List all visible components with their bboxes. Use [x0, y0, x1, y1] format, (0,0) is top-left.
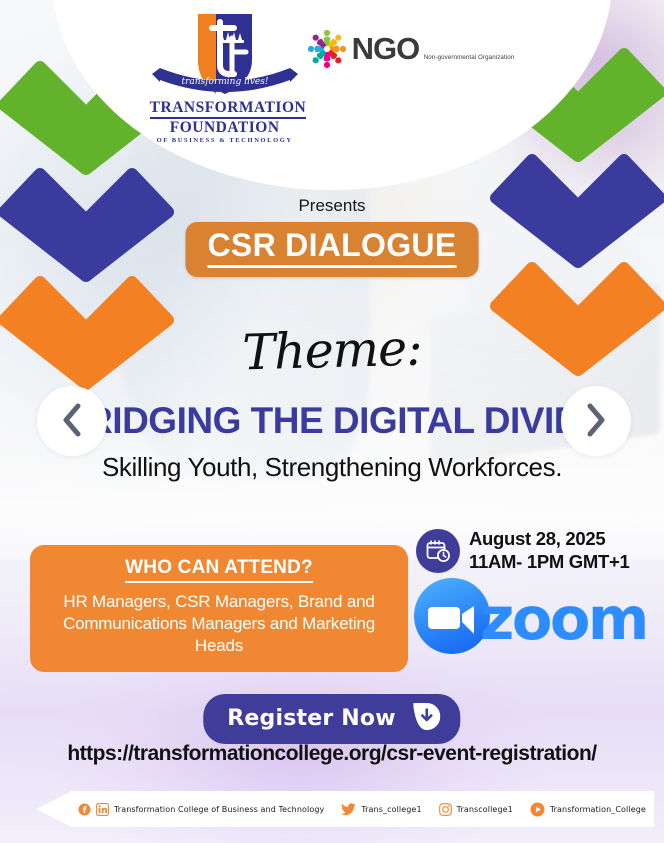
register-now-label: Register Now	[227, 706, 395, 731]
ngo-logo: NGO Non-governmental Organization	[304, 26, 515, 72]
social-footer-bar: Transformation College of Business and T…	[36, 791, 654, 827]
social-handle-twitter: Trans_college1	[361, 805, 421, 814]
social-twitter[interactable]: Trans_college1	[341, 803, 421, 816]
facebook-icon	[78, 803, 91, 816]
event-title: CSR DIALOGUE	[208, 229, 457, 268]
chevron-right-icon	[585, 403, 607, 440]
linkedin-icon	[96, 803, 109, 816]
youtube-icon	[530, 802, 545, 817]
shield-emblem-icon: transforming lives!	[150, 8, 300, 100]
zoom-platform-logo: zoom	[414, 578, 647, 659]
register-now-button[interactable]: Register Now	[203, 694, 460, 744]
download-arrow-icon	[414, 703, 441, 733]
who-can-attend-title: WHO CAN ATTEND?	[125, 557, 313, 583]
social-handle-linkedin: Transformation College of Business and T…	[114, 805, 324, 814]
event-title-badge: CSR DIALOGUE	[186, 222, 479, 277]
schedule-block: August 28, 2025 11AM- 1PM GMT+1	[416, 528, 630, 573]
social-youtube[interactable]: Transformation_College	[530, 802, 646, 817]
foundation-line-3: OF BUSINESS & TECHNOLOGY	[150, 138, 300, 145]
svg-text:transforming lives!: transforming lives!	[181, 77, 268, 87]
logo-row: transforming lives! TRANSFORMATION FOUND…	[0, 8, 664, 158]
social-facebook[interactable]: Transformation College of Business and T…	[78, 803, 324, 816]
who-can-attend-card: WHO CAN ATTEND? HR Managers, CSR Manager…	[30, 545, 408, 672]
foundation-line-1: TRANSFORMATION	[150, 100, 307, 119]
carousel-next-button[interactable]	[561, 386, 631, 456]
instagram-icon	[439, 803, 452, 816]
social-instagram[interactable]: Transcollege1	[439, 803, 513, 816]
presents-label: Presents	[0, 196, 664, 216]
foundation-wordmark: TRANSFORMATION FOUNDATION OF BUSINESS & …	[150, 100, 300, 144]
social-handle-youtube: Transformation_College	[550, 805, 646, 814]
carousel-prev-button[interactable]	[37, 386, 107, 456]
social-handle-instagram: Transcollege1	[457, 805, 513, 814]
zoom-camera-icon	[414, 578, 490, 659]
who-can-attend-body: HR Managers, CSR Managers, Brand and Com…	[46, 591, 392, 656]
transformation-foundation-logo: transforming lives! TRANSFORMATION FOUND…	[150, 8, 300, 144]
foundation-line-2: FOUNDATION	[150, 120, 300, 136]
event-time: 11AM- 1PM GMT+1	[469, 551, 630, 572]
twitter-icon	[341, 803, 356, 816]
ngo-subtitle: Non-governmental Organization	[424, 54, 515, 61]
chevron-left-icon	[61, 403, 83, 440]
ngo-pinwheel-icon	[304, 26, 350, 72]
calendar-clock-icon	[416, 529, 460, 573]
chevron-blue-left	[0, 162, 174, 282]
schedule-text: August 28, 2025 11AM- 1PM GMT+1	[469, 528, 630, 573]
event-date: August 28, 2025	[469, 528, 605, 549]
theme-subline: Skilling Youth, Strengthening Workforces…	[0, 452, 664, 483]
ngo-title: NGO	[352, 31, 420, 66]
zoom-wordmark: zoom	[480, 589, 647, 648]
registration-url[interactable]: https://transformationcollege.org/csr-ev…	[0, 742, 664, 766]
event-flyer: transforming lives! TRANSFORMATION FOUND…	[0, 0, 664, 843]
ngo-wordmark: NGO Non-governmental Organization	[352, 35, 515, 64]
